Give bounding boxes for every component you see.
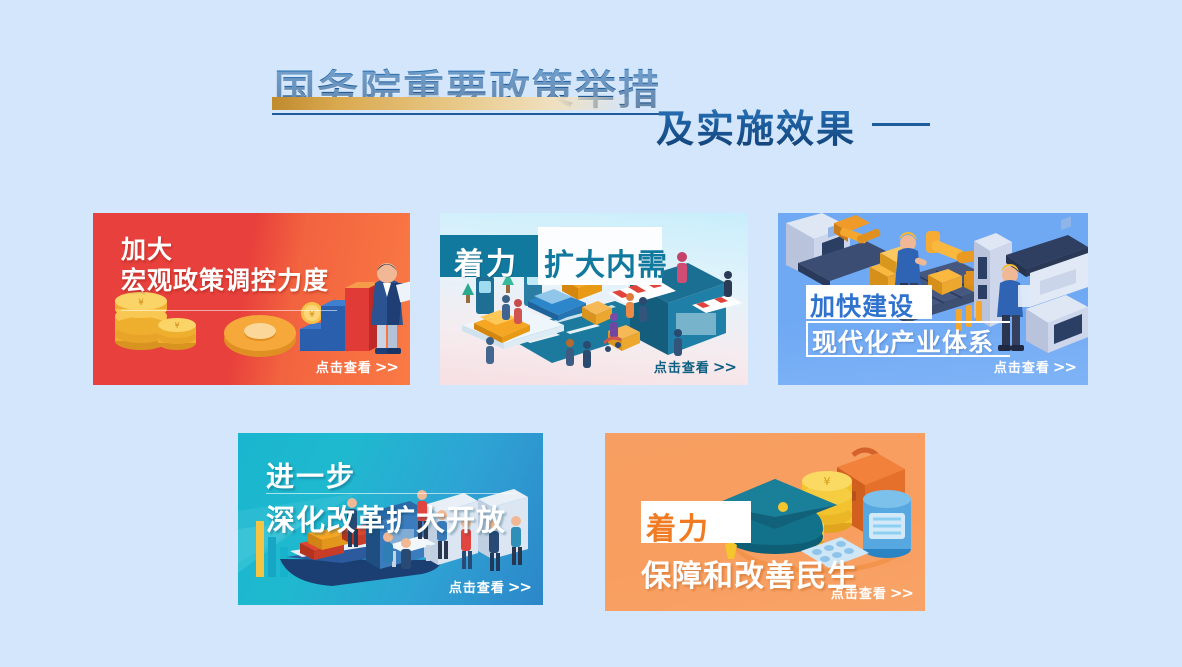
page-header: 国务院重要政策举措 及实施效果 (0, 0, 1182, 180)
card1-headline-line-1: 加大 (121, 235, 329, 266)
card2-cta-label: 点击查看 (654, 361, 710, 376)
title-gold-underline (272, 97, 634, 110)
card2-cta[interactable]: 点击查看>> (654, 357, 736, 376)
svg-text:¥: ¥ (309, 310, 315, 320)
svg-text:¥: ¥ (824, 475, 831, 488)
card5-headline-line-2: 保障和改善民生 (641, 551, 858, 595)
title-blue-rule-right (872, 123, 930, 126)
card-expand-domestic-demand[interactable]: 着力 扩大内需 点击查看>> (440, 213, 748, 385)
card3-cta-label: 点击查看 (994, 361, 1050, 376)
card4-headline-line-2: 深化改革扩大开放 (266, 497, 506, 539)
card-modern-industrial-system[interactable]: 加快建设 现代化产业体系 点击查看>> (778, 213, 1088, 385)
card1-headline: 加大 宏观政策调控力度 (121, 235, 329, 296)
card4-cta[interactable]: 点击查看>> (449, 577, 531, 596)
card3-cta[interactable]: 点击查看>> (994, 357, 1076, 376)
svg-text:¥: ¥ (138, 298, 144, 308)
card1-cta-label: 点击查看 (316, 361, 372, 376)
chevron-right-icon: >> (372, 358, 398, 376)
chevron-right-icon: >> (887, 584, 913, 602)
card5-headline-line-1: 着力 (646, 504, 710, 548)
card1-cta[interactable]: 点击查看>> (316, 357, 398, 376)
card4-headline-line-1: 进一步 (266, 455, 356, 495)
chevron-right-icon: >> (505, 578, 531, 596)
title-blue-rule-left (272, 113, 660, 115)
chevron-right-icon: >> (1050, 358, 1076, 376)
svg-text:¥: ¥ (174, 321, 179, 330)
card-safeguard-improve-livelihood[interactable]: ¥ ¥ (605, 433, 925, 611)
card-macro-policy[interactable]: ¥ ¥ ¥ (93, 213, 410, 385)
card1-headline-divider (121, 310, 337, 311)
card5-cta[interactable]: 点击查看>> (831, 583, 913, 602)
card3-headline-line-1: 加快建设 (810, 287, 914, 323)
card5-cta-label: 点击查看 (831, 587, 887, 602)
card3-headline-line-2: 现代化产业体系 (812, 323, 994, 359)
card-deepen-reform-open-up[interactable]: 进一步 深化改革扩大开放 点击查看>> (238, 433, 543, 605)
card4-cta-label: 点击查看 (449, 581, 505, 596)
card2-headline-line-1: 着力 (454, 239, 518, 283)
page-title-line-2: 及实施效果 (656, 98, 856, 153)
card2-headline-line-2: 扩大内需 (544, 240, 668, 284)
chevron-right-icon: >> (710, 358, 736, 376)
card1-headline-line-2: 宏观政策调控力度 (121, 266, 329, 297)
